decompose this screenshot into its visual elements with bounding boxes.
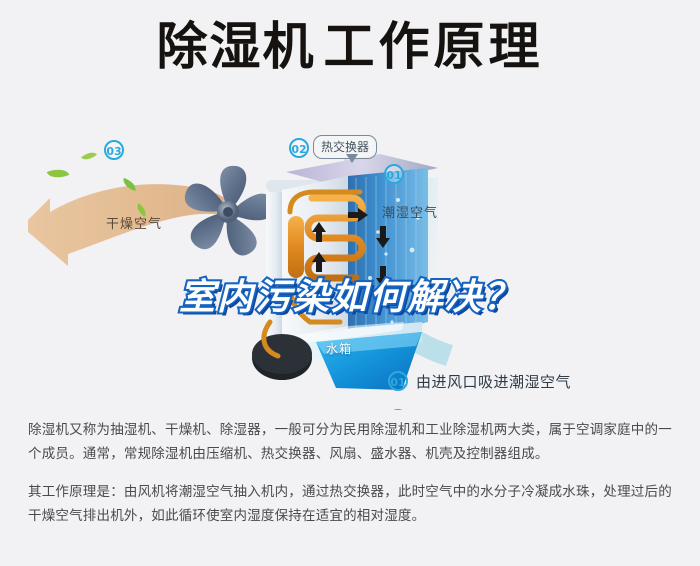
diagram-badge-01: 01 bbox=[384, 164, 404, 184]
callout-pointer-icon bbox=[346, 154, 358, 163]
page-title-part2: 工作原理 bbox=[324, 18, 544, 77]
step-text: 潮湿空气经过蒸发器冷凝成水珠 bbox=[416, 409, 633, 411]
step-list: 01 由进风口吸进潮湿空气 02 潮湿空气经过蒸发器冷凝成水珠 03 从上部出风… bbox=[388, 366, 688, 410]
step-number: 01 bbox=[388, 371, 408, 391]
leaf-icon bbox=[81, 148, 97, 163]
dehumidifier-diagram: 03 干燥空气 02 热交换器 01 潮湿空气 水箱 01 由进风口吸进潮湿空气… bbox=[0, 118, 700, 410]
diagram-badge-02: 02 bbox=[289, 138, 309, 158]
diagram-label-humid-air: 潮湿空气 bbox=[382, 202, 438, 221]
step-number: 02 bbox=[388, 409, 408, 410]
paragraph-1: 除湿机又称为抽湿机、干燥机、除湿器，一般可分为民用除湿机和工业除湿机两大类，属于… bbox=[28, 418, 676, 466]
diagram-label-heat-exchanger: 热交换器 bbox=[313, 135, 377, 159]
list-item: 02 潮湿空气经过蒸发器冷凝成水珠 bbox=[388, 404, 688, 410]
infographic-page: 除湿机工作原理 bbox=[0, 0, 700, 566]
step-text: 由进风口吸进潮湿空气 bbox=[416, 371, 571, 392]
list-item: 01 由进风口吸进潮湿空气 bbox=[388, 366, 688, 396]
body-copy: 除湿机又称为抽湿机、干燥机、除湿器，一般可分为民用除湿机和工业除湿机两大类，属于… bbox=[28, 418, 676, 542]
diagram-label-water-tank: 水箱 bbox=[326, 340, 352, 357]
diagram-label-dry-air: 干燥空气 bbox=[106, 213, 162, 232]
paragraph-2: 其工作原理是：由风机将潮湿空气抽入机内，通过热交换器，此时空气中的水分子冷凝成水… bbox=[28, 480, 676, 528]
page-title-part1: 除湿机 bbox=[156, 18, 315, 77]
diagram-badge-03: 03 bbox=[104, 140, 124, 160]
page-title: 除湿机工作原理 bbox=[0, 22, 700, 73]
